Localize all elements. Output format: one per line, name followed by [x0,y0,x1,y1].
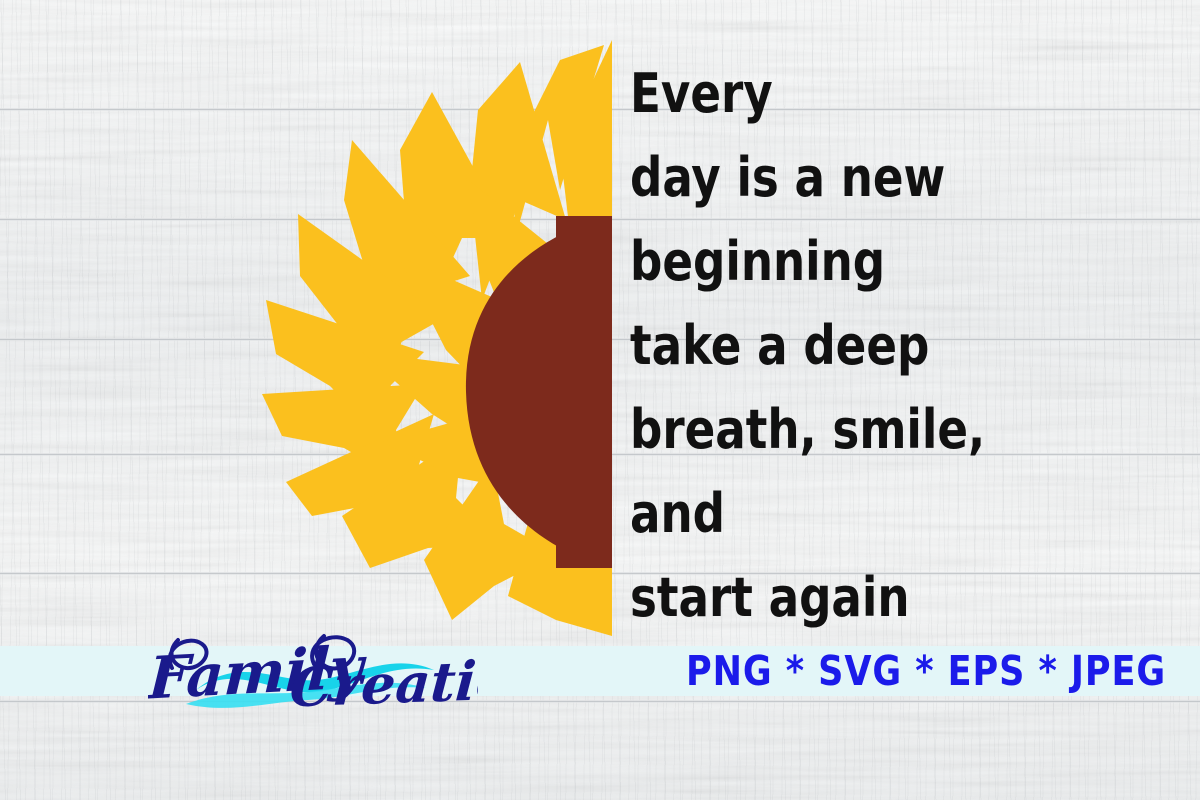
sunflower-graphic [0,0,700,680]
quote-line-2: day is a new [630,136,1132,220]
quote-line-1: Every [630,52,1132,136]
family-creations-logo: Family Creations [148,618,478,723]
quote-line-3: beginning [630,220,1132,304]
quote-line-7: start again [630,556,1132,640]
quote-text-block: Every day is a new beginning take a deep… [630,52,1170,640]
file-formats-label: PNG * SVG * EPS * JPEG [686,647,1166,695]
quote-line-5: breath, smile, [630,388,1132,472]
file-formats: PNG * SVG * EPS * JPEG [686,645,1146,697]
design-canvas: Every day is a new beginning take a deep… [0,0,1200,800]
quote-line-4: take a deep [630,304,1132,388]
quote-line-6: and [630,472,1132,556]
